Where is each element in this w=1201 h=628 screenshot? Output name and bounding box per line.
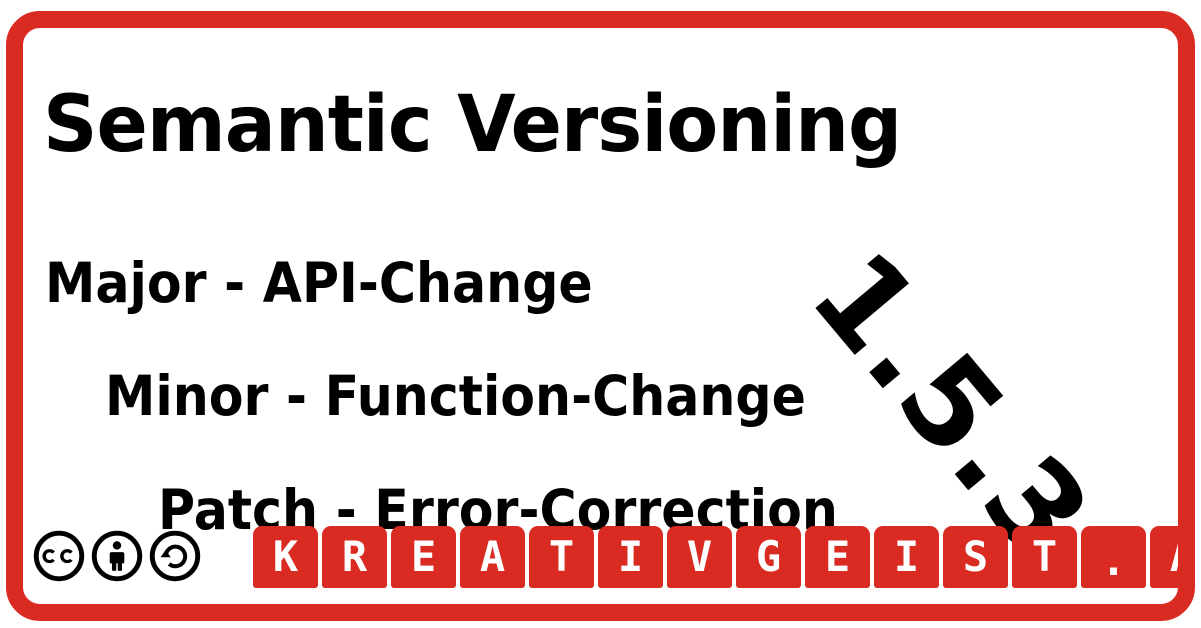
cc-sa-share-alike-icon — [149, 530, 201, 582]
domain-tile: T — [1012, 526, 1077, 588]
domain-tile: E — [805, 526, 870, 588]
license-icon-group — [33, 530, 201, 582]
domain-tile: I — [598, 526, 663, 588]
domain-tile: A — [460, 526, 525, 588]
cc-by-attribution-icon — [91, 530, 143, 582]
page-title: Semantic Versioning — [43, 86, 901, 164]
version-number-stamp: 1.5.3 — [878, 213, 1195, 513]
domain-tile: S — [943, 526, 1008, 588]
semver-line-minor: Minor - Function-Change — [105, 369, 806, 424]
domain-tile: G — [736, 526, 801, 588]
domain-tile: R — [322, 526, 387, 588]
domain-tile: . — [1081, 526, 1146, 588]
domain-tile: K — [253, 526, 318, 588]
domain-tile: E — [391, 526, 456, 588]
domain-tile: I — [874, 526, 939, 588]
semver-line-major: Major - API-Change — [45, 256, 593, 311]
domain-tile: V — [667, 526, 732, 588]
domain-tile: A — [1150, 526, 1195, 588]
domain-tile-row: K R E A T I V G E I S T . A T — [253, 526, 1195, 588]
info-card: Semantic Versioning Major - API-Change M… — [6, 11, 1195, 621]
domain-tile: T — [529, 526, 594, 588]
creative-commons-icon — [33, 530, 85, 582]
footer-bar: K R E A T I V G E I S T . A T — [23, 524, 1178, 604]
